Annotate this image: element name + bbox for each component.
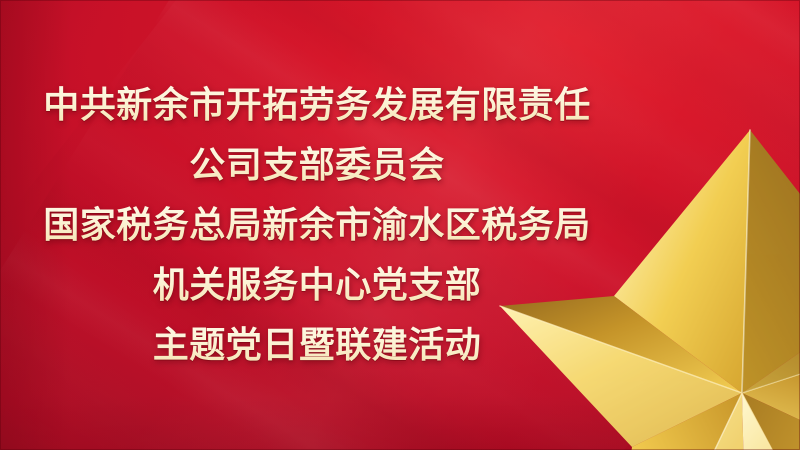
headline-line-4: 机关服务中心党支部 — [153, 256, 482, 316]
headline-line-3: 国家税务总局新余市渝水区税务局 — [43, 196, 591, 256]
poster-headline: 中共新余市开拓劳务发展有限责任 公司支部委员会 国家税务总局新余市渝水区税务局 … — [0, 0, 634, 450]
headline-line-1: 中共新余市开拓劳务发展有限责任 — [43, 76, 591, 136]
poster-canvas: 中共新余市开拓劳务发展有限责任 公司支部委员会 国家税务总局新余市渝水区税务局 … — [0, 0, 800, 450]
headline-line-5: 主题党日暨联建活动 — [153, 316, 482, 376]
headline-line-2: 公司支部委员会 — [189, 136, 445, 196]
